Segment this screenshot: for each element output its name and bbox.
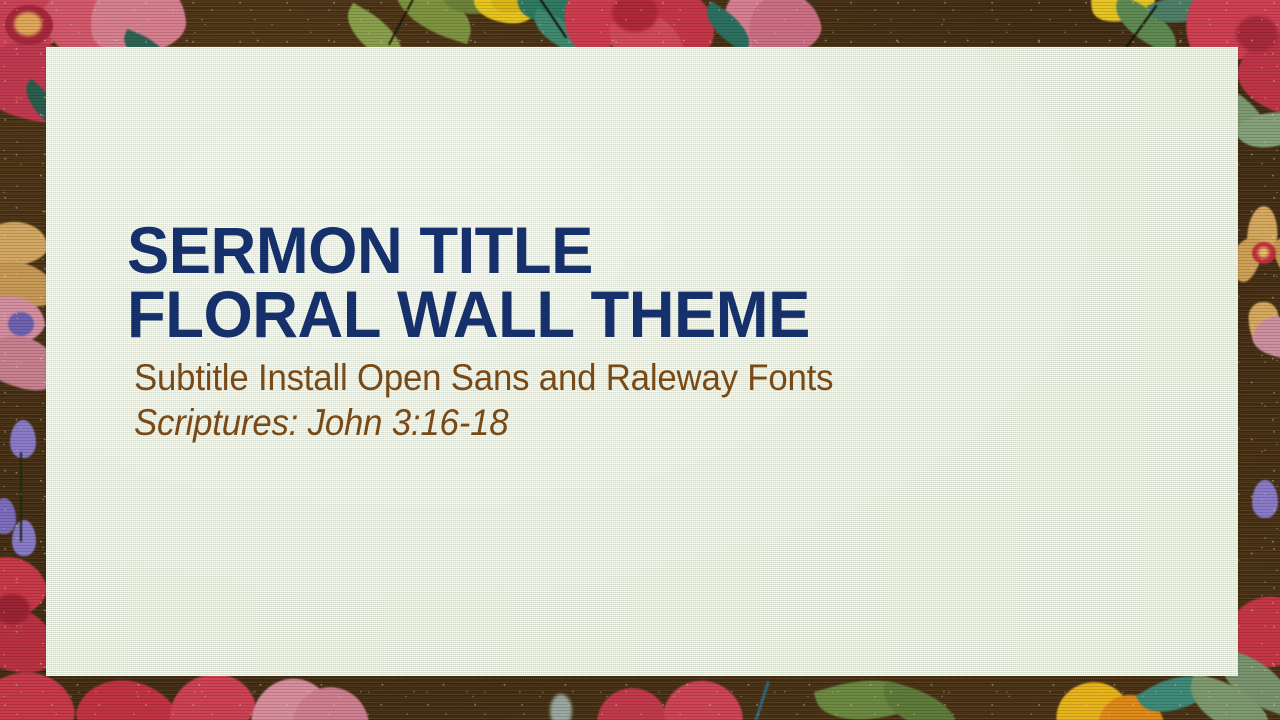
- slide-title-line-1: SERMON TITLE: [127, 218, 1097, 282]
- slide-subtitle: Subtitle Install Open Sans and Raleway F…: [134, 355, 1077, 400]
- slide-text-block: SERMON TITLE FLORAL WALL THEME Subtitle …: [127, 218, 1137, 445]
- slide-title-line-2: FLORAL WALL THEME: [127, 282, 1097, 346]
- slide-scripture-reference: Scriptures: John 3:16-18: [134, 400, 1077, 445]
- sermon-title-slide: SERMON TITLE FLORAL WALL THEME Subtitle …: [0, 0, 1280, 720]
